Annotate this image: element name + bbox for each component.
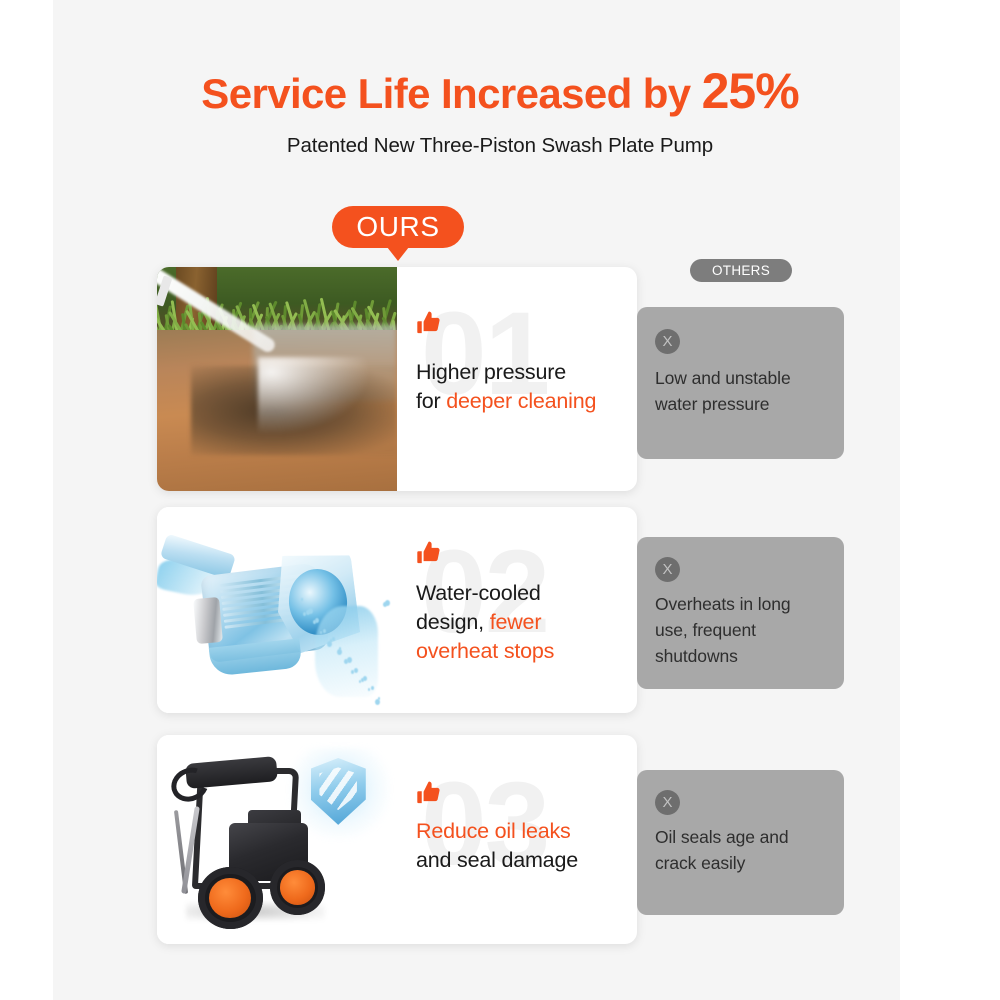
ours-text-block-3: 03 Reduce oil leaks and seal damage xyxy=(397,735,637,944)
wheel-right xyxy=(270,860,325,914)
ours-line-2b-highlight: fewer xyxy=(490,610,542,634)
thumbs-up-icon xyxy=(416,310,442,341)
ours-benefit-text-1: Higher pressure for deeper cleaning xyxy=(416,358,596,416)
page-title: Service Life Increased by 25% xyxy=(0,66,1000,116)
x-icon-label: X xyxy=(662,333,672,350)
others-drawback-text-3: Oil seals age and crack easily xyxy=(655,824,789,876)
ours-card-2: 02 Water-cooled design, fewer overheat s… xyxy=(157,507,637,713)
others-badge-label: OTHERS xyxy=(712,263,770,278)
ours-text-block-1: 01 Higher pressure for deeper cleaning xyxy=(397,267,637,491)
others-line-3b: crack easily xyxy=(655,850,789,876)
scene-pressure-wash xyxy=(157,267,397,491)
x-icon-label: X xyxy=(662,794,672,811)
x-icon: X xyxy=(655,557,680,582)
x-icon: X xyxy=(655,790,680,815)
page-subtitle: Patented New Three-Piston Swash Plate Pu… xyxy=(0,134,1000,158)
ours-line-3b: and seal damage xyxy=(416,848,578,872)
ours-line-3a-highlight: Reduce oil leaks xyxy=(416,819,571,843)
ours-image-2 xyxy=(157,507,397,713)
others-line-3a: Oil seals age and xyxy=(655,824,789,850)
ours-line-1a: Higher pressure xyxy=(416,360,566,384)
ours-text-block-2: 02 Water-cooled design, fewer overheat s… xyxy=(397,507,637,713)
ours-line-1b: for xyxy=(416,389,446,413)
pump-cylinder xyxy=(193,597,223,644)
ours-image-1 xyxy=(157,267,397,491)
scene-pressure-washer-machine xyxy=(157,735,397,944)
scene-water-cooled-pump xyxy=(157,507,397,713)
x-icon: X xyxy=(655,329,680,354)
others-card-2: X Overheats in long use, frequent shutdo… xyxy=(637,537,844,689)
ours-badge-label: OURS xyxy=(356,211,439,243)
others-badge: OTHERS xyxy=(690,259,792,282)
ours-benefit-text-3: Reduce oil leaks and seal damage xyxy=(416,817,578,875)
others-drawback-text-1: Low and unstable water pressure xyxy=(655,365,791,417)
ours-card-1: 01 Higher pressure for deeper cleaning xyxy=(157,267,637,491)
others-line-2a: Overheats in long xyxy=(655,591,790,617)
others-card-1: X Low and unstable water pressure xyxy=(637,307,844,459)
comparison-infographic: Service Life Increased by 25% Patented N… xyxy=(0,0,1000,1000)
ours-line-2b: design, xyxy=(416,610,490,634)
headline-percent: 25% xyxy=(702,63,799,119)
others-line-1a: Low and unstable xyxy=(655,365,791,391)
others-line-1b: water pressure xyxy=(655,391,791,417)
ours-benefit-text-2: Water-cooled design, fewer overheat stop… xyxy=(416,579,554,666)
ours-badge: OURS xyxy=(332,206,464,248)
others-card-3: X Oil seals age and crack easily xyxy=(637,770,844,915)
ours-card-3: 03 Reduce oil leaks and seal damage xyxy=(157,735,637,944)
ours-line-2c-highlight: overheat stops xyxy=(416,639,554,663)
ours-line-2a: Water-cooled xyxy=(416,581,541,605)
wheel-left xyxy=(198,867,263,930)
x-icon-label: X xyxy=(662,561,672,578)
others-line-2c: shutdowns xyxy=(655,643,790,669)
ours-line-1b-highlight: deeper cleaning xyxy=(446,389,596,413)
thumbs-up-icon xyxy=(416,780,442,811)
ours-image-3 xyxy=(157,735,397,944)
others-drawback-text-2: Overheats in long use, frequent shutdown… xyxy=(655,591,790,669)
headline-prefix: Service Life Increased by xyxy=(201,70,701,117)
water-flow-right xyxy=(315,606,377,697)
others-line-2b: use, frequent xyxy=(655,617,790,643)
water-spray-mist xyxy=(258,357,368,433)
thumbs-up-icon xyxy=(416,540,442,571)
